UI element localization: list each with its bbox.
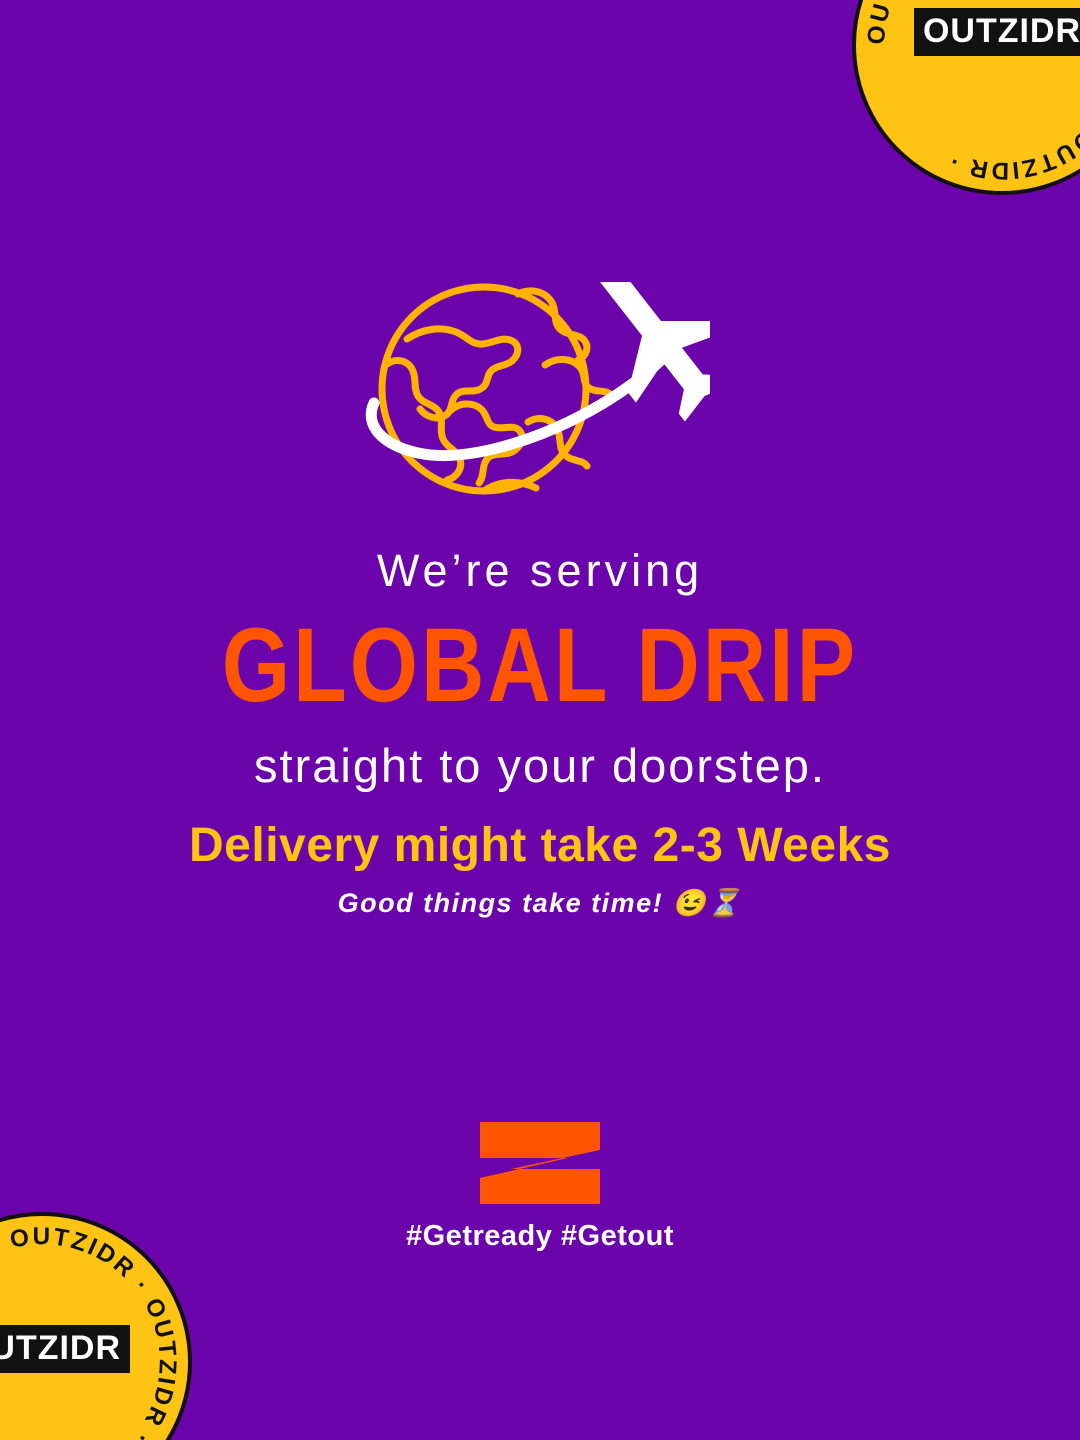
globe-icon	[360, 282, 710, 504]
outzidr-badge-top-right: OUTZIDR · OUTZIDR · OUTZIDR · OUTZIDR · …	[852, 0, 1080, 195]
badge-center-label: OUTZIDR	[914, 8, 1080, 56]
page-title: GLOBAL DRIP	[0, 607, 1080, 725]
badge-core-bl: OUTZIDR	[0, 1351, 135, 1373]
badge-center-label: OUTZIDR	[0, 1325, 130, 1373]
delivery-reassurance-text: Good things take time! 😉⏳	[0, 887, 1080, 919]
outzidr-badge-bottom-left: OUTZIDR · OUTZIDR · OUTZIDR · OUTZIDR · …	[0, 1212, 192, 1440]
eyebrow-text: We’re serving	[0, 545, 1080, 597]
subline-text: straight to your doorstep.	[0, 739, 1080, 793]
badge-core-tr: OUTZIDR	[909, 34, 1080, 56]
delivery-time-text: Delivery might take 2-3 Weeks	[0, 818, 1080, 873]
poster-canvas: We’re serving GLOBAL DRIP straight to yo…	[0, 0, 1080, 1440]
headline-block: We’re serving GLOBAL DRIP straight to yo…	[0, 545, 1080, 793]
z-monogram-icon	[478, 1120, 602, 1206]
delivery-notice-block: Delivery might take 2-3 Weeks Good thing…	[0, 818, 1080, 919]
hashtags-text: #Getready #Getout	[406, 1220, 674, 1253]
globe-with-airplane-illustration	[360, 282, 710, 504]
